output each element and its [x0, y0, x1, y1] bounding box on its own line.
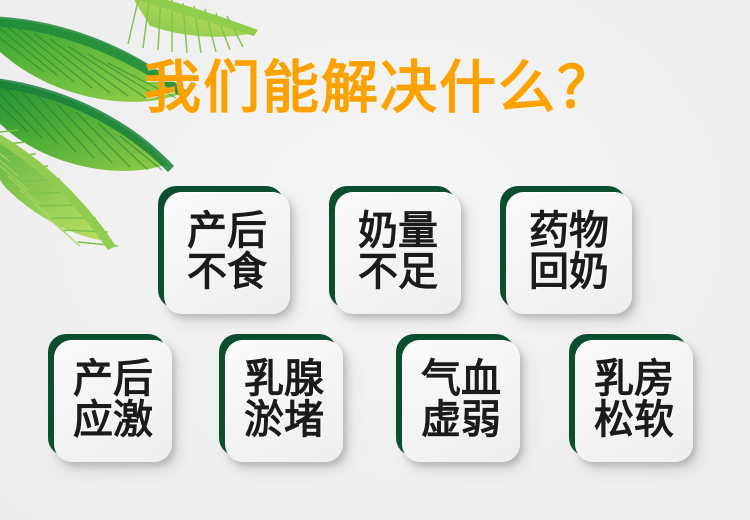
issue-card-label: 奶量 不足 [358, 211, 438, 293]
issue-card-label: 乳腺 淤堵 [244, 359, 324, 441]
issue-card-mammary-blockage[interactable]: 乳腺 淤堵 [225, 340, 343, 462]
issue-card-label: 产后 应激 [73, 359, 153, 441]
issue-card-postpartum-stress[interactable]: 产后 应激 [54, 340, 172, 462]
issue-card-low-milk-supply[interactable]: 奶量 不足 [335, 192, 461, 314]
issue-card-label: 药物 回奶 [529, 211, 609, 293]
issue-card-label: 乳房 松软 [594, 359, 674, 441]
issue-card-breast-sagging[interactable]: 乳房 松软 [575, 340, 693, 462]
issue-card-label: 气血 虚弱 [421, 359, 501, 441]
poster-canvas: 我们能解决什么？ 产后 不食 奶量 不足 药物 回奶 产后 应激 乳腺 淤堵 气… [0, 0, 750, 520]
issue-card-drug-induced-weaning[interactable]: 药物 回奶 [506, 192, 632, 314]
issue-card-postpartum-anorexia[interactable]: 产后 不食 [164, 192, 290, 314]
issue-card-label: 产后 不食 [187, 211, 267, 293]
issue-card-qi-blood-deficiency[interactable]: 气血 虚弱 [402, 340, 520, 462]
